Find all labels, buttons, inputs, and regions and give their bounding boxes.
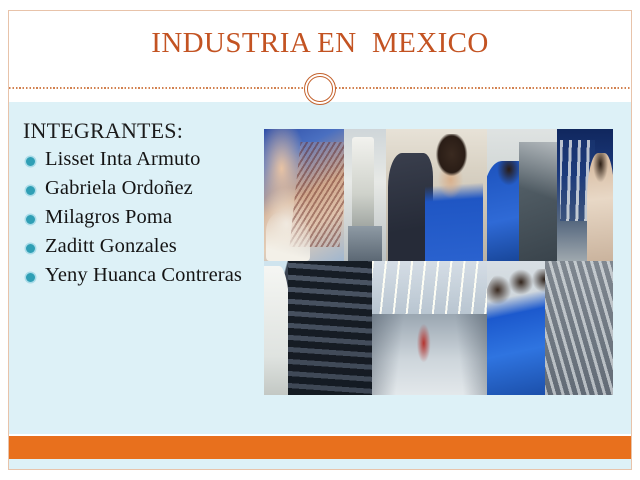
collage-row-top [264, 129, 613, 261]
members-heading: INTEGRANTES: [23, 118, 265, 143]
collage-panel-hands-wiring [264, 129, 344, 261]
bullet-dot-icon [26, 157, 35, 166]
members-content-column: INTEGRANTES: Lisset Inta Armuto Gabriela… [23, 118, 265, 293]
slide-body: INTEGRANTES: Lisset Inta Armuto Gabriela… [9, 100, 631, 469]
collage-panel-blue-coat-worker [487, 129, 557, 261]
member-name: Lisset Inta Armuto [45, 148, 201, 170]
page-title: INDUSTRIA EN MEXICO [9, 28, 631, 60]
list-item: Gabriela Ordoñez [23, 177, 265, 201]
members-list: Lisset Inta Armuto Gabriela Ordoñez Mila… [23, 148, 265, 288]
list-item: Yeny Huanca Contreras [23, 264, 265, 288]
collage-panel-equipment-rack [264, 261, 372, 395]
presentation-slide: INDUSTRIA EN MEXICO INTEGRANTES: Lisset … [8, 10, 632, 470]
accent-bottom-band [9, 434, 631, 459]
member-name: Zaditt Gonzales [45, 235, 177, 257]
bullet-dot-icon [26, 215, 35, 224]
collage-panel-tech-bench [557, 129, 613, 261]
bullet-dot-icon [26, 186, 35, 195]
collage-panel-workers-blue-jacket [386, 129, 487, 261]
member-name: Milagros Poma [45, 206, 172, 228]
bullet-dot-icon [26, 273, 35, 282]
bullet-dot-icon [26, 244, 35, 253]
member-name: Yeny Huanca Contreras [45, 264, 242, 286]
collage-panel-factory-aisle [372, 261, 487, 395]
list-item: Lisset Inta Armuto [23, 148, 265, 172]
member-name: Gabriela Ordoñez [45, 177, 193, 199]
list-item: Zaditt Gonzales [23, 235, 265, 259]
ring-ornament-icon [304, 73, 336, 105]
collage-row-bottom [264, 261, 613, 395]
list-item: Milagros Poma [23, 206, 265, 230]
factory-photo-collage [264, 129, 613, 395]
collage-panel-machine-operator [344, 129, 386, 261]
collage-panel-assembly-line [487, 261, 613, 395]
